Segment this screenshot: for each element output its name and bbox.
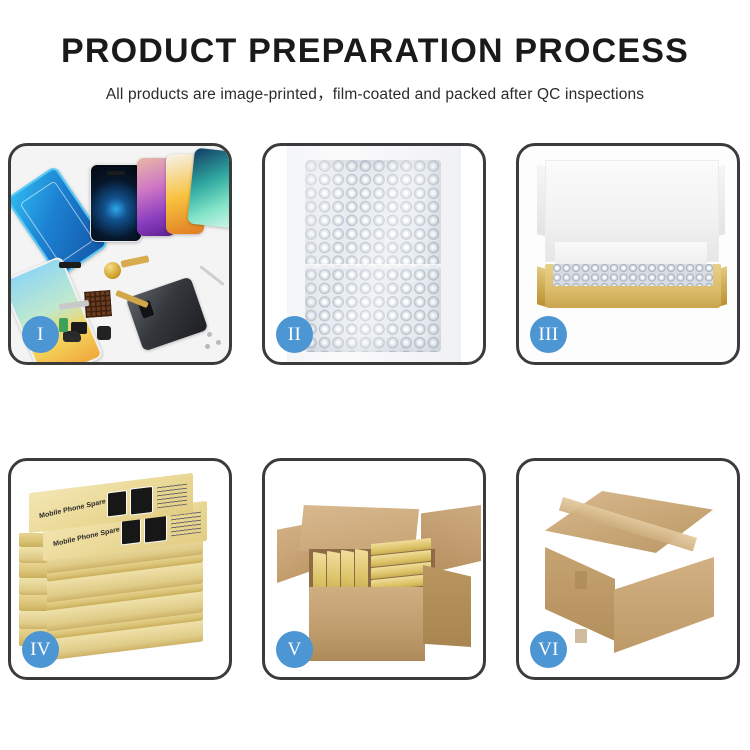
screw-part-2 xyxy=(216,340,221,345)
carton-seam-tab-1 xyxy=(575,571,587,589)
tweezers-tool xyxy=(199,265,224,286)
black-screen-phone xyxy=(90,164,142,242)
box-screen-image-3 xyxy=(121,518,141,545)
phone-back-housing xyxy=(126,276,209,351)
step-panel-1: I xyxy=(8,143,232,365)
step-badge-2: II xyxy=(276,316,313,353)
step-panel-4: Mobile Phone Spare Parts Mobile Phone Sp… xyxy=(8,458,232,680)
screw-part-3 xyxy=(205,344,210,349)
steps-grid: I II III xyxy=(8,143,742,680)
page-subtitle: All products are image-printed，film-coat… xyxy=(0,82,750,104)
carton-front-face xyxy=(309,587,425,661)
header: PRODUCT PREPARATION PROCESS All products… xyxy=(0,0,750,104)
connector-part-1 xyxy=(59,262,81,268)
step-badge-1: I xyxy=(22,316,59,353)
carton-right-face-sealed xyxy=(614,557,714,653)
flex-cable-part-1 xyxy=(121,255,150,268)
step-badge-4: IV xyxy=(22,631,59,668)
speaker-part xyxy=(63,331,81,342)
step-panel-3: III xyxy=(516,143,740,365)
speaker-coil-part xyxy=(104,262,121,279)
bubble-wrapped-item-in-box xyxy=(553,264,713,286)
camera-module-part xyxy=(97,326,111,340)
step-panel-5: V xyxy=(262,458,486,680)
step-panel-2: II xyxy=(262,143,486,365)
step-badge-5: V xyxy=(276,631,313,668)
step-badge-3: III xyxy=(530,316,567,353)
page-title: PRODUCT PREPARATION PROCESS xyxy=(0,34,750,68)
bubble-wrap-sheen xyxy=(305,160,441,352)
carton-seam-tab-2 xyxy=(575,629,587,643)
battery-connector-part xyxy=(59,318,68,332)
box-screen-image-2 xyxy=(130,486,153,516)
screw-part-1 xyxy=(207,332,212,337)
teal-gradient-phone xyxy=(187,148,229,229)
box-spec-lines-1 xyxy=(157,483,187,509)
step-panel-6: VI xyxy=(516,458,740,680)
step-badge-6: VI xyxy=(530,631,567,668)
box-screen-image-1 xyxy=(107,490,127,517)
carton-right-face xyxy=(423,565,471,647)
carton-left-face xyxy=(545,547,615,641)
product-preparation-infographic: PRODUCT PREPARATION PROCESS All products… xyxy=(0,0,750,750)
